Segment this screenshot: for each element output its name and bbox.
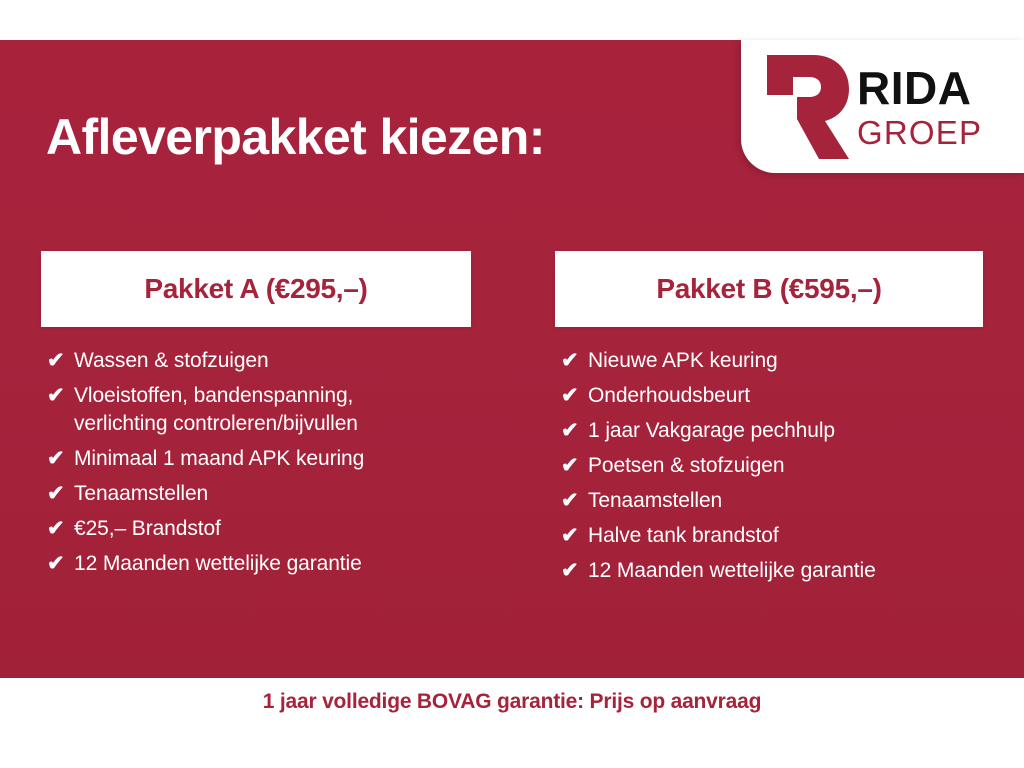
logo-brand-text: RIDA [857, 65, 982, 111]
list-item-label: Minimaal 1 maand APK keuring [74, 445, 364, 473]
check-icon: ✔ [557, 452, 588, 480]
list-item: ✔ Tenaamstellen [43, 480, 471, 508]
list-item: ✔ 12 Maanden wettelijke garantie [43, 550, 471, 578]
list-item-label: Poetsen & stofzuigen [588, 452, 784, 480]
list-item: ✔ Minimaal 1 maand APK keuring [43, 445, 471, 473]
package-b-feature-list: ✔ Nieuwe APK keuring ✔ Onderhoudsbeurt ✔… [555, 327, 983, 585]
package-a-header: Pakket A (€295,–) [41, 251, 471, 327]
list-item: ✔ Vloeistoffen, bandenspanning, verlicht… [43, 382, 471, 438]
page-title: Afleverpakket kiezen: [46, 110, 545, 165]
check-icon: ✔ [557, 417, 588, 445]
package-b-title: Pakket B (€595,–) [656, 273, 881, 305]
list-item: ✔ Halve tank brandstof [557, 522, 983, 550]
list-item-label: Wassen & stofzuigen [74, 347, 269, 375]
check-icon: ✔ [557, 382, 588, 410]
footer-bar: 1 jaar volledige BOVAG garantie: Prijs o… [0, 678, 1024, 768]
list-item-label: Vloeistoffen, bandenspanning, verlichtin… [74, 382, 358, 438]
list-item: ✔ 12 Maanden wettelijke garantie [557, 557, 983, 585]
list-item-label-line2: verlichting controleren/bijvullen [74, 410, 358, 438]
list-item-label: 12 Maanden wettelijke garantie [588, 557, 876, 585]
logo-subbrand-text: GROEP [857, 116, 982, 149]
package-b-header: Pakket B (€595,–) [555, 251, 983, 327]
list-item-label: 12 Maanden wettelijke garantie [74, 550, 362, 578]
check-icon: ✔ [557, 487, 588, 515]
logo-plate: RIDA GROEP [741, 40, 1024, 173]
list-item-label: Nieuwe APK keuring [588, 347, 778, 375]
check-icon: ✔ [43, 480, 74, 508]
slide-root: Afleverpakket kiezen: RIDA GROEP Pakket … [0, 0, 1024, 768]
list-item-label: Onderhoudsbeurt [588, 382, 750, 410]
check-icon: ✔ [43, 550, 74, 578]
check-icon: ✔ [557, 522, 588, 550]
list-item-label: €25,– Brandstof [74, 515, 221, 543]
package-a-title: Pakket A (€295,–) [144, 273, 367, 305]
rida-r-mark-icon [763, 53, 849, 161]
footer-note: 1 jaar volledige BOVAG garantie: Prijs o… [0, 690, 1024, 714]
package-card-a[interactable]: Pakket A (€295,–) ✔ Wassen & stofzuigen … [41, 251, 471, 585]
check-icon: ✔ [557, 347, 588, 375]
check-icon: ✔ [43, 515, 74, 543]
list-item: ✔ Onderhoudsbeurt [557, 382, 983, 410]
check-icon: ✔ [43, 382, 74, 410]
list-item: ✔ 1 jaar Vakgarage pechhulp [557, 417, 983, 445]
list-item-label: Halve tank brandstof [588, 522, 779, 550]
list-item-label: Tenaamstellen [588, 487, 722, 515]
package-card-b[interactable]: Pakket B (€595,–) ✔ Nieuwe APK keuring ✔… [555, 251, 983, 592]
packages-row: Pakket A (€295,–) ✔ Wassen & stofzuigen … [0, 251, 1024, 651]
package-a-feature-list: ✔ Wassen & stofzuigen ✔ Vloeistoffen, ba… [41, 327, 471, 578]
list-item-label: Tenaamstellen [74, 480, 208, 508]
list-item: ✔ €25,– Brandstof [43, 515, 471, 543]
list-item: ✔ Wassen & stofzuigen [43, 347, 471, 375]
list-item: ✔ Nieuwe APK keuring [557, 347, 983, 375]
logo-lockup: RIDA GROEP [763, 46, 1013, 168]
logo-wordmark: RIDA GROEP [857, 65, 982, 149]
list-item: ✔ Poetsen & stofzuigen [557, 452, 983, 480]
check-icon: ✔ [557, 557, 588, 585]
list-item-label: 1 jaar Vakgarage pechhulp [588, 417, 835, 445]
list-item: ✔ Tenaamstellen [557, 487, 983, 515]
check-icon: ✔ [43, 445, 74, 473]
check-icon: ✔ [43, 347, 74, 375]
list-item-label-line1: Vloeistoffen, bandenspanning, [74, 384, 353, 407]
